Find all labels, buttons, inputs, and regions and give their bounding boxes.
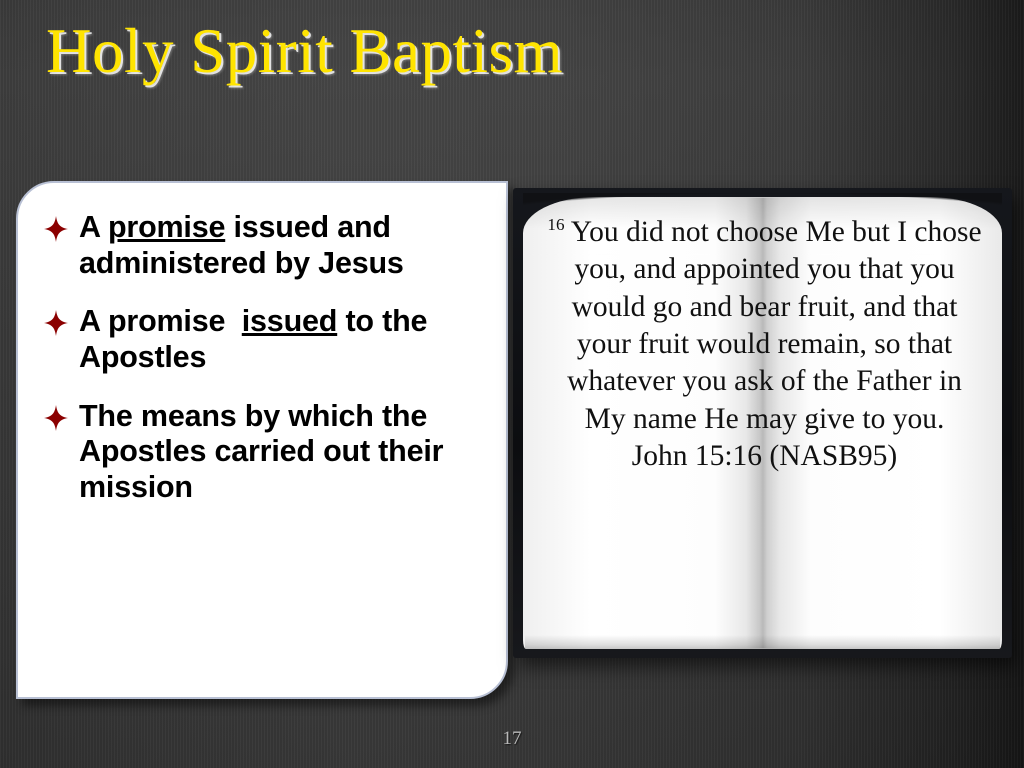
list-item: The means by which the Apostles carried … xyxy=(44,399,488,506)
bullet-text-plain: A xyxy=(79,210,108,244)
list-item-text: A promise issued to the Apostles xyxy=(79,304,427,374)
list-item-text: A promise issued and administered by Jes… xyxy=(79,210,404,280)
book-page-bottom-edge xyxy=(525,635,1000,649)
red-four-point-star-icon xyxy=(44,216,68,242)
verse-number: 16 xyxy=(547,215,564,234)
slide-title: Holy Spirit Baptism xyxy=(46,18,946,84)
bullet-text-underlined: promise xyxy=(108,210,225,244)
list-item: A promise issued to the Apostles xyxy=(44,304,488,375)
slide-page-number: 17 xyxy=(0,728,1024,750)
presentation-slide: Holy Spirit Baptism A promise issued and… xyxy=(0,0,1024,768)
list-item-text: The means by which the Apostles carried … xyxy=(79,399,443,504)
red-four-point-star-icon xyxy=(44,310,68,336)
scripture-citation: John 15:16 (NASB95) xyxy=(547,438,982,475)
scripture-body: You did not choose Me but I chose you, a… xyxy=(567,216,982,435)
content-panel: A promise issued and administered by Jes… xyxy=(16,181,508,699)
bullet-text-underlined: issued xyxy=(242,304,337,338)
bullet-list: A promise issued and administered by Jes… xyxy=(44,210,488,506)
open-book-image: 16 You did not choose Me but I chose you… xyxy=(513,188,1012,658)
list-item: A promise issued and administered by Jes… xyxy=(44,210,488,281)
red-four-point-star-icon xyxy=(44,405,68,431)
bullet-text-plain: A promise xyxy=(79,304,242,338)
scripture-text: 16 You did not choose Me but I chose you… xyxy=(547,214,982,475)
